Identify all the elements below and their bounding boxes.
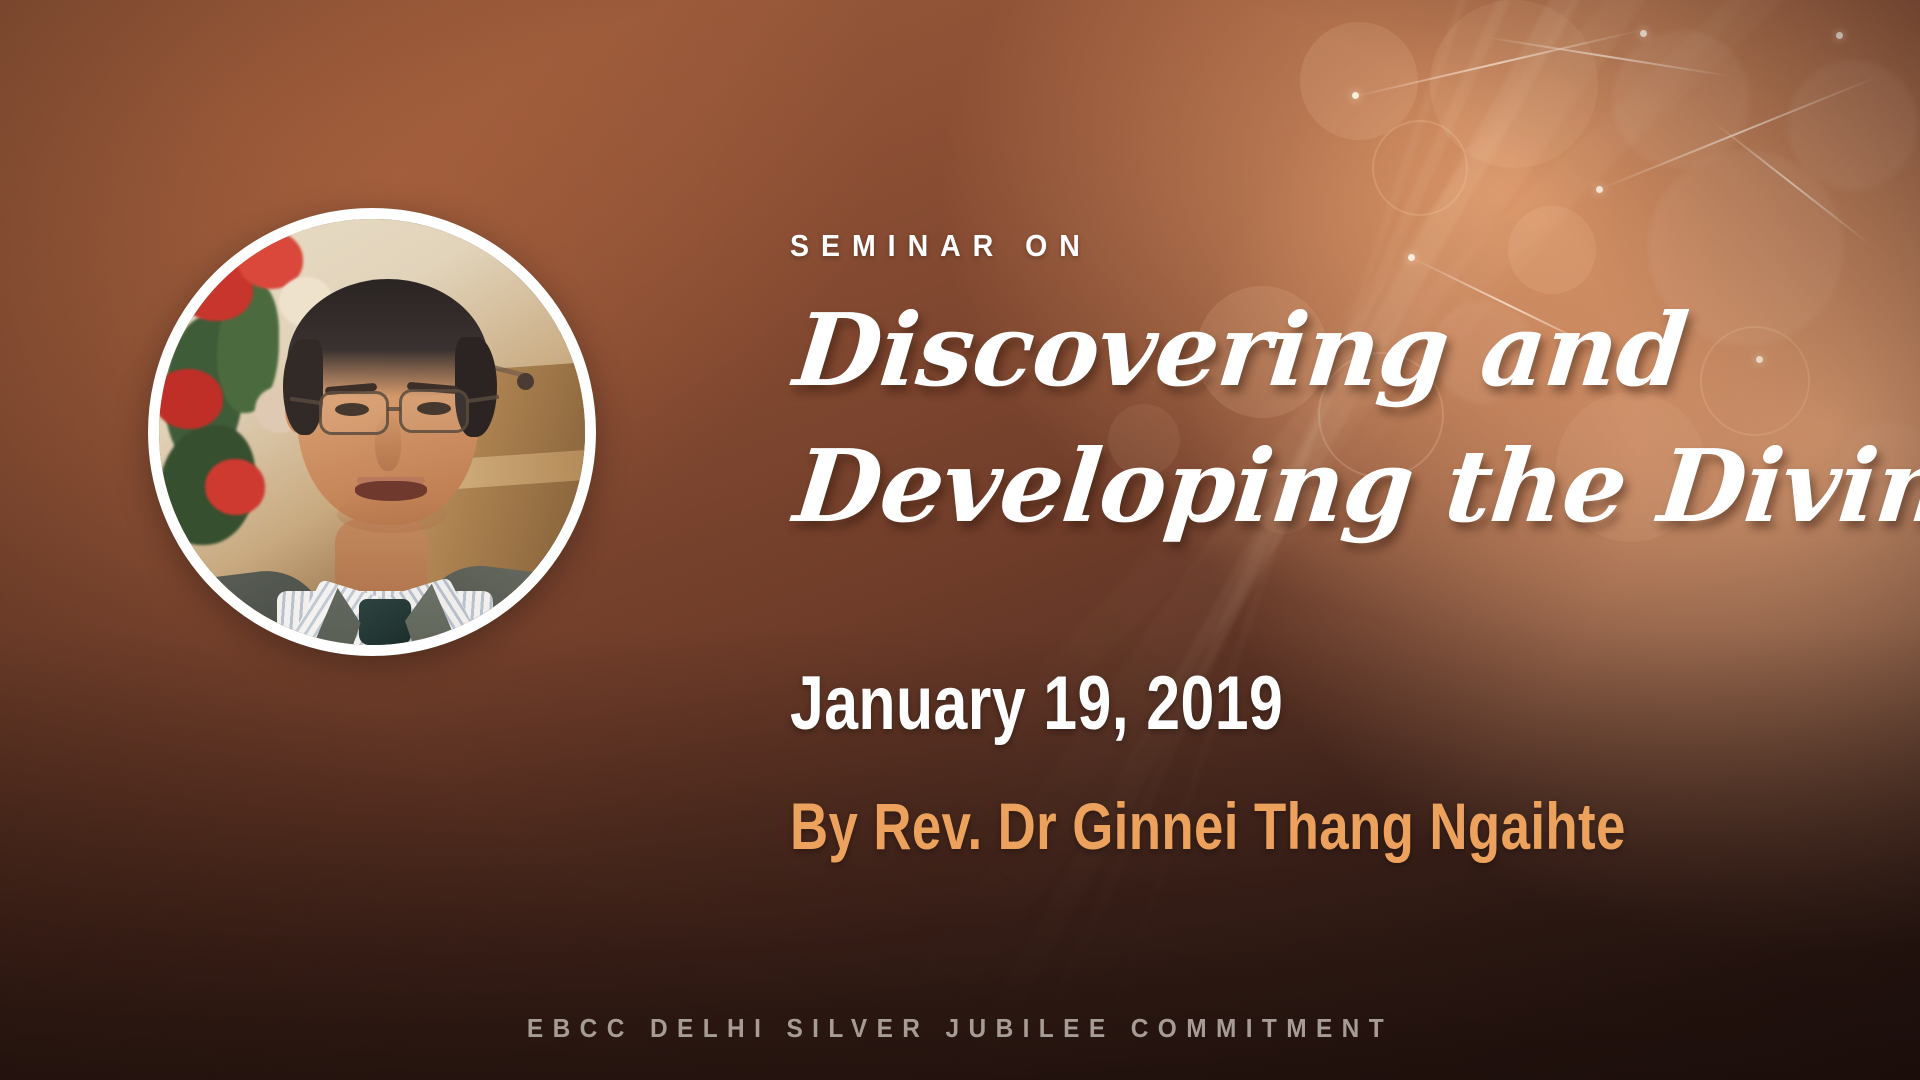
poster-title: Discovering and Developing the Divine Gi… [790, 300, 1890, 536]
speaker-portrait [148, 208, 596, 656]
portrait-flower [205, 459, 265, 515]
title-line-2: Developing the Divine Gift [790, 436, 1901, 536]
footer-organization: EBCC DELHI SILVER JUBILEE COMMITMENT [58, 1013, 1863, 1044]
speaker-name: By Rev. Dr Ginnei Thang Ngaihte [790, 788, 1626, 864]
portrait-photo [159, 219, 585, 645]
glasses-icon [319, 391, 389, 435]
portrait-necktie-knot [359, 599, 411, 645]
portrait-hair-left [283, 339, 323, 435]
portrait-mouth [355, 481, 427, 501]
seminar-poster: SEMINAR ON Discovering and Developing th… [0, 0, 1920, 1080]
glasses-bridge-icon [387, 407, 401, 411]
poster-text-column: SEMINAR ON Discovering and Developing th… [790, 0, 1900, 1080]
title-line-1: Discovering and [790, 300, 1901, 400]
glasses-icon [399, 389, 469, 433]
eyebrow-label: SEMINAR ON [790, 228, 1092, 264]
portrait-microphone-head [517, 373, 534, 390]
portrait-flower [159, 369, 223, 429]
event-date: January 19, 2019 [790, 660, 1283, 747]
